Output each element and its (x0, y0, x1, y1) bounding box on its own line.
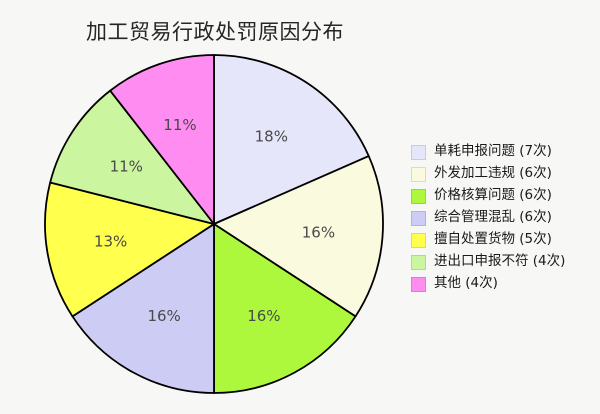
legend-item-label: 价格核算问题 (6次) (434, 189, 552, 203)
legend-item-label: 外发加工违规 (6次) (434, 167, 552, 181)
legend-item[interactable]: 进出口申报不符 (4次) (411, 251, 597, 273)
legend-item[interactable]: 其他 (4次) (411, 273, 597, 295)
legend-item-label: 单耗申报问题 (7次) (434, 145, 552, 159)
legend-item[interactable]: 综合管理混乱 (6次) (411, 207, 597, 229)
legend-item-label: 综合管理混乱 (6次) (434, 211, 552, 225)
legend-item-label: 其他 (4次) (434, 277, 498, 291)
pie-slice-percent-label: 18% (255, 127, 288, 145)
pie-slice-percent-label: 16% (147, 307, 180, 325)
legend-color-swatch (411, 167, 426, 182)
pie-slice-percent-label: 16% (247, 307, 280, 325)
pie-slice-percent-label: 11% (110, 158, 143, 176)
legend-item-label: 进出口申报不符 (4次) (434, 255, 565, 269)
legend-color-swatch (411, 255, 426, 270)
legend-item[interactable]: 外发加工违规 (6次) (411, 163, 597, 185)
chart-legend: 单耗申报问题 (7次)外发加工违规 (6次)价格核算问题 (6次)综合管理混乱 … (411, 141, 597, 295)
pie-slice-percent-label: 13% (94, 232, 127, 250)
legend-color-swatch (411, 277, 426, 292)
legend-color-swatch (411, 145, 426, 160)
legend-item[interactable]: 擅自处置货物 (5次) (411, 229, 597, 251)
legend-item[interactable]: 价格核算问题 (6次) (411, 185, 597, 207)
legend-item-label: 擅自处置货物 (5次) (434, 233, 552, 247)
pie-slice-percent-label: 16% (302, 224, 335, 242)
pie-slice-percent-label: 11% (163, 116, 196, 134)
legend-color-swatch (411, 189, 426, 204)
legend-color-swatch (411, 211, 426, 226)
legend-color-swatch (411, 233, 426, 248)
legend-item[interactable]: 单耗申报问题 (7次) (411, 141, 597, 163)
pie-chart-figure: 加工贸易行政处罚原因分布 18%16%16%16%13%11%11% 单耗申报问… (0, 0, 600, 414)
